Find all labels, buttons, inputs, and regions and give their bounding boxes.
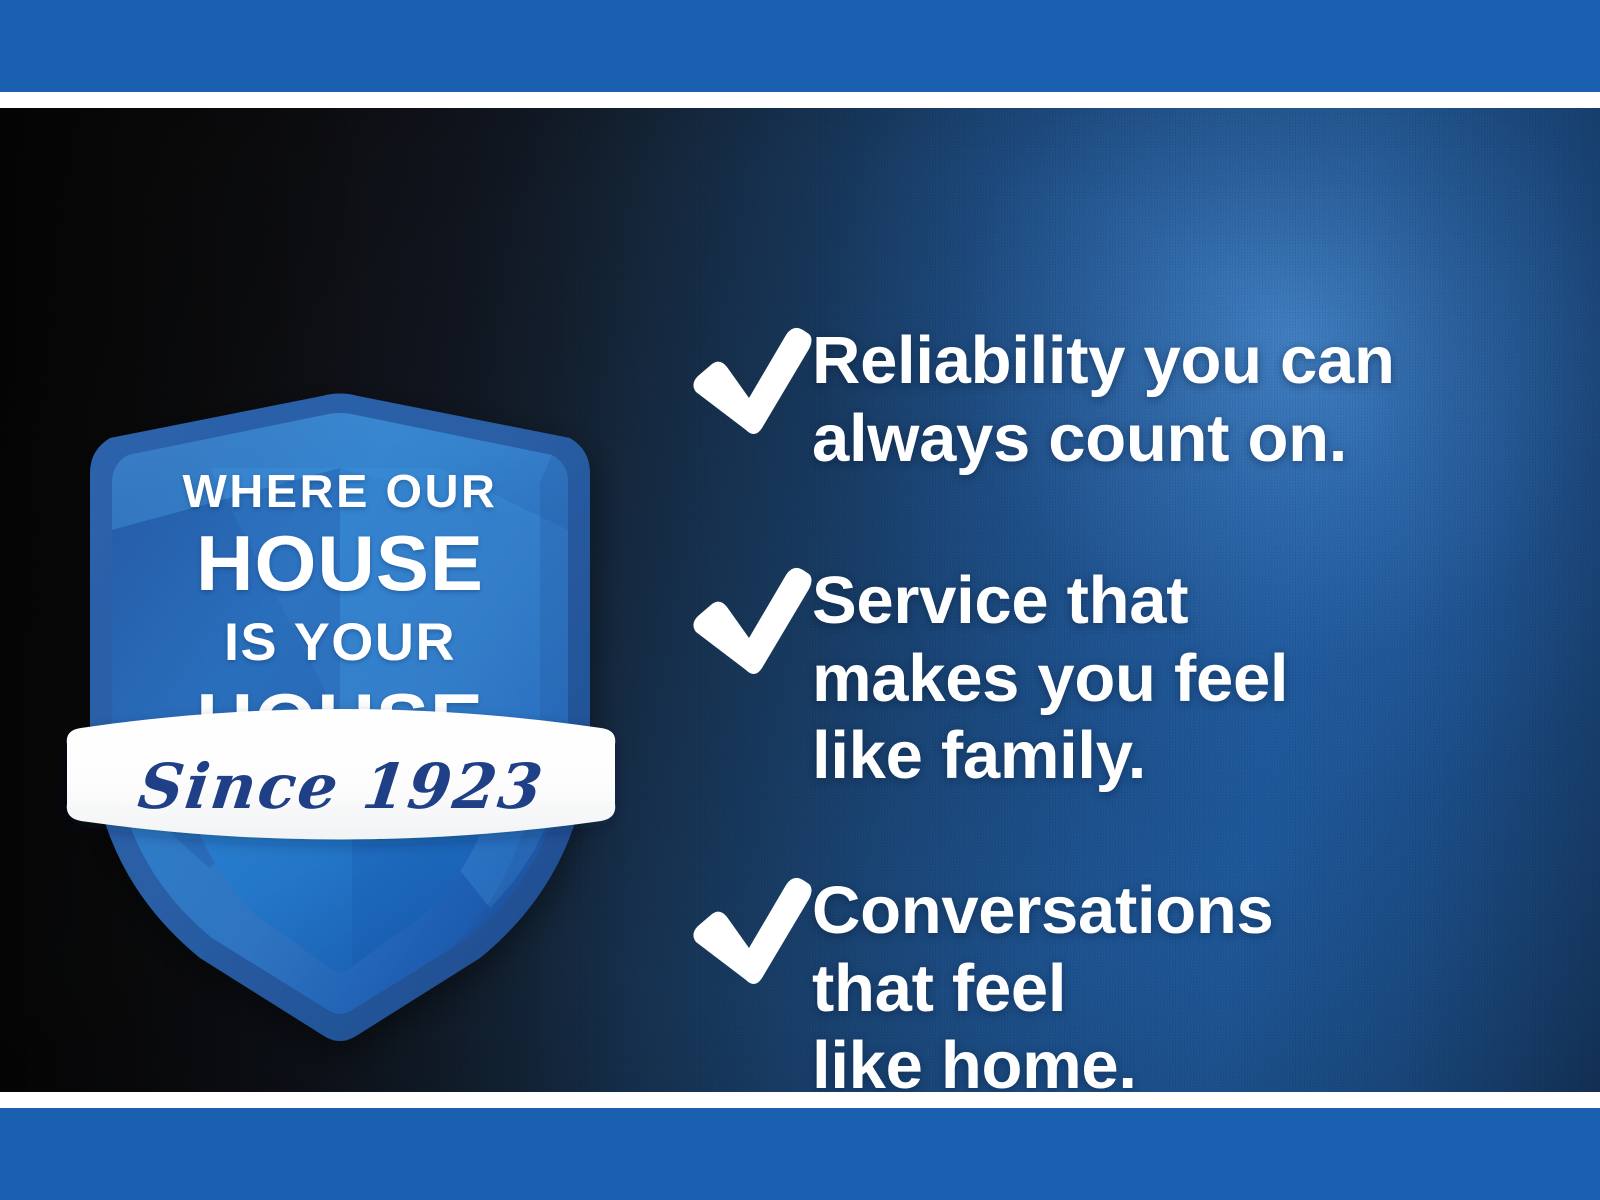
benefit-line: makes you feel <box>812 640 1552 718</box>
promo-graphic: WHERE OUR HOUSE IS YOUR HOUSE <box>0 0 1600 1200</box>
benefit-item-reliability: Reliability you can always count on. <box>672 316 1552 477</box>
benefit-line: Reliability you can <box>812 322 1552 400</box>
benefit-text-conversations: Conversations that feel like home. <box>812 872 1552 1092</box>
shield-graphic <box>60 268 620 1058</box>
bottom-brand-bar <box>0 1108 1600 1200</box>
check-icon <box>672 558 812 682</box>
benefit-line: like home. <box>812 1027 1552 1092</box>
benefit-item-conversations: Conversations that feel like home. <box>672 866 1552 1092</box>
bottom-divider-stripe <box>0 1092 1600 1108</box>
benefit-line: Service that <box>812 562 1552 640</box>
benefit-line: Conversations <box>812 872 1552 950</box>
top-brand-bar <box>0 0 1600 92</box>
benefit-line: like family. <box>812 717 1552 795</box>
benefit-line: that feel <box>812 950 1552 1028</box>
check-icon <box>672 318 812 442</box>
brand-shield-badge: WHERE OUR HOUSE IS YOUR HOUSE <box>60 268 620 1058</box>
benefits-list: Reliability you can always count on. Ser… <box>672 268 1552 1092</box>
top-divider-stripe <box>0 92 1600 108</box>
benefit-text-service: Service that makes you feel like family. <box>812 562 1552 795</box>
check-icon <box>672 868 812 992</box>
benefit-text-reliability: Reliability you can always count on. <box>812 322 1552 477</box>
main-stage: WHERE OUR HOUSE IS YOUR HOUSE <box>0 108 1600 1092</box>
benefit-item-service: Service that makes you feel like family. <box>672 556 1552 795</box>
benefit-line: always count on. <box>812 400 1552 478</box>
